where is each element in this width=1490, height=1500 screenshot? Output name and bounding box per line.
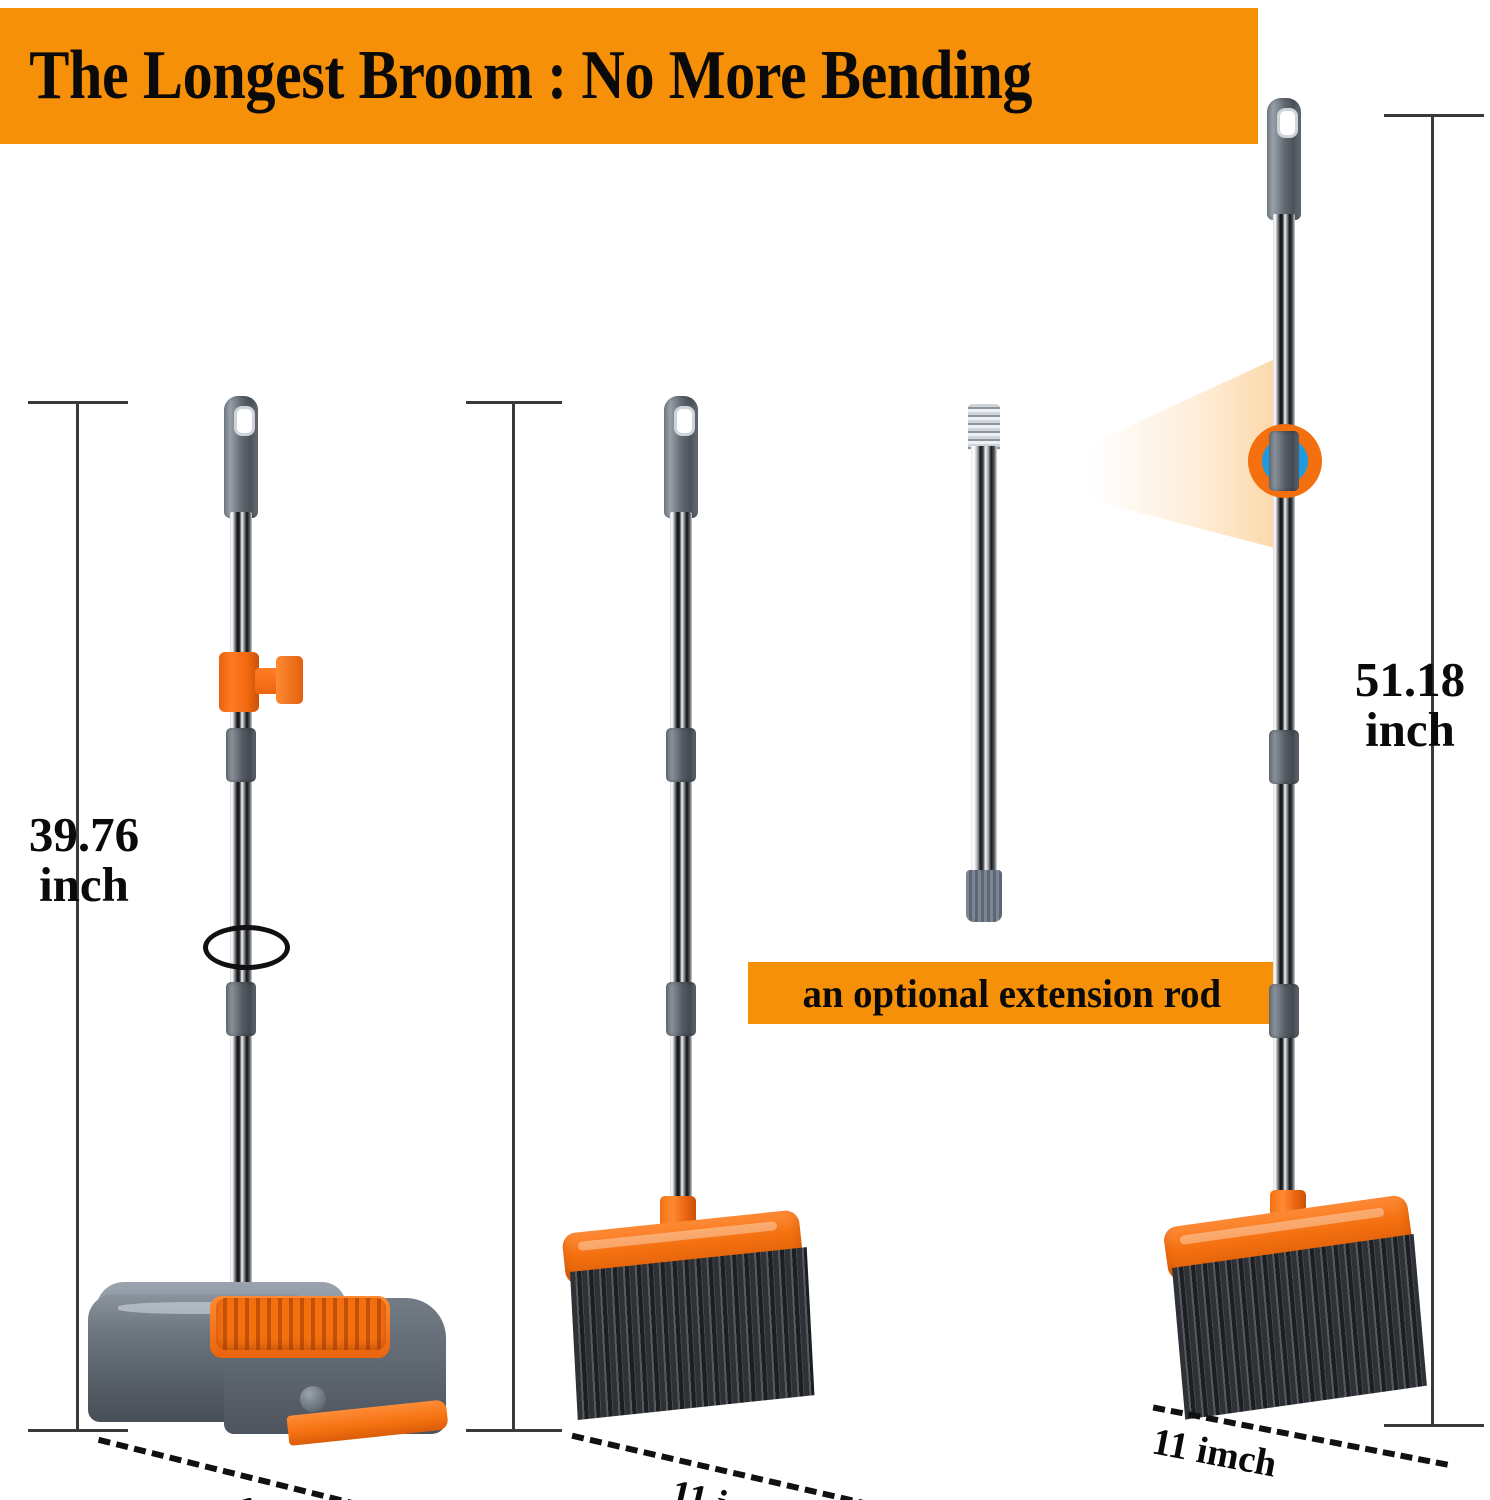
pole-sleeve-upper — [1269, 730, 1299, 784]
middle-dimension-vertical — [512, 401, 515, 1431]
left-height-label: 39.76 inch — [4, 810, 164, 910]
dustpan-comb-teeth — [216, 1298, 386, 1350]
extension-rod-shaft — [971, 446, 997, 876]
left-dimension-vertical — [76, 401, 79, 1431]
broom-bristles — [570, 1247, 814, 1420]
extension-joint-sleeve — [1269, 431, 1299, 491]
broom-bristles — [1172, 1234, 1427, 1420]
handle-hanging-hole — [234, 406, 255, 436]
orange-clip-body — [219, 652, 259, 712]
page-title: The Longest Broom : No More Bending — [0, 41, 1032, 111]
right-broom-head — [1158, 1190, 1448, 1425]
middle-dimension-bottom-cap — [466, 1429, 562, 1432]
middle-width-dimension: 11 inch — [559, 1433, 894, 1500]
infographic-canvas: The Longest Broom : No More Bending 39.7… — [0, 0, 1490, 1500]
pole-sleeve-lower — [666, 982, 696, 1036]
middle-width-label: 11 inch — [667, 1471, 789, 1500]
extension-rod-end-cap — [966, 870, 1002, 922]
right-height-label: 51.18 inch — [1330, 655, 1490, 755]
middle-broom-head — [556, 1196, 846, 1426]
telescoping-pole — [230, 512, 252, 1302]
handle-hanging-hole — [674, 406, 695, 436]
pole-sleeve-lower — [1269, 984, 1299, 1038]
orange-clip-tab — [276, 656, 303, 704]
telescoping-pole — [1273, 214, 1295, 1222]
pole-sleeve-lower — [226, 982, 256, 1036]
handle-hanging-hole — [1277, 108, 1298, 138]
header-banner: The Longest Broom : No More Bending — [0, 8, 1258, 144]
telescoping-pole — [670, 512, 692, 1224]
dustpan-release-knob — [300, 1386, 326, 1412]
right-dimension-top-cap — [1384, 114, 1484, 117]
dustpan — [88, 1258, 448, 1448]
pole-sleeve-upper — [226, 728, 256, 782]
extension-rod-badge-label: an optional extension rod — [803, 970, 1222, 1017]
swivel-rotation-indicator — [203, 925, 290, 970]
pole-sleeve-upper — [666, 728, 696, 782]
extension-rod-badge: an optional extension rod — [748, 962, 1276, 1024]
extension-rod-threaded-tip — [968, 404, 1000, 450]
